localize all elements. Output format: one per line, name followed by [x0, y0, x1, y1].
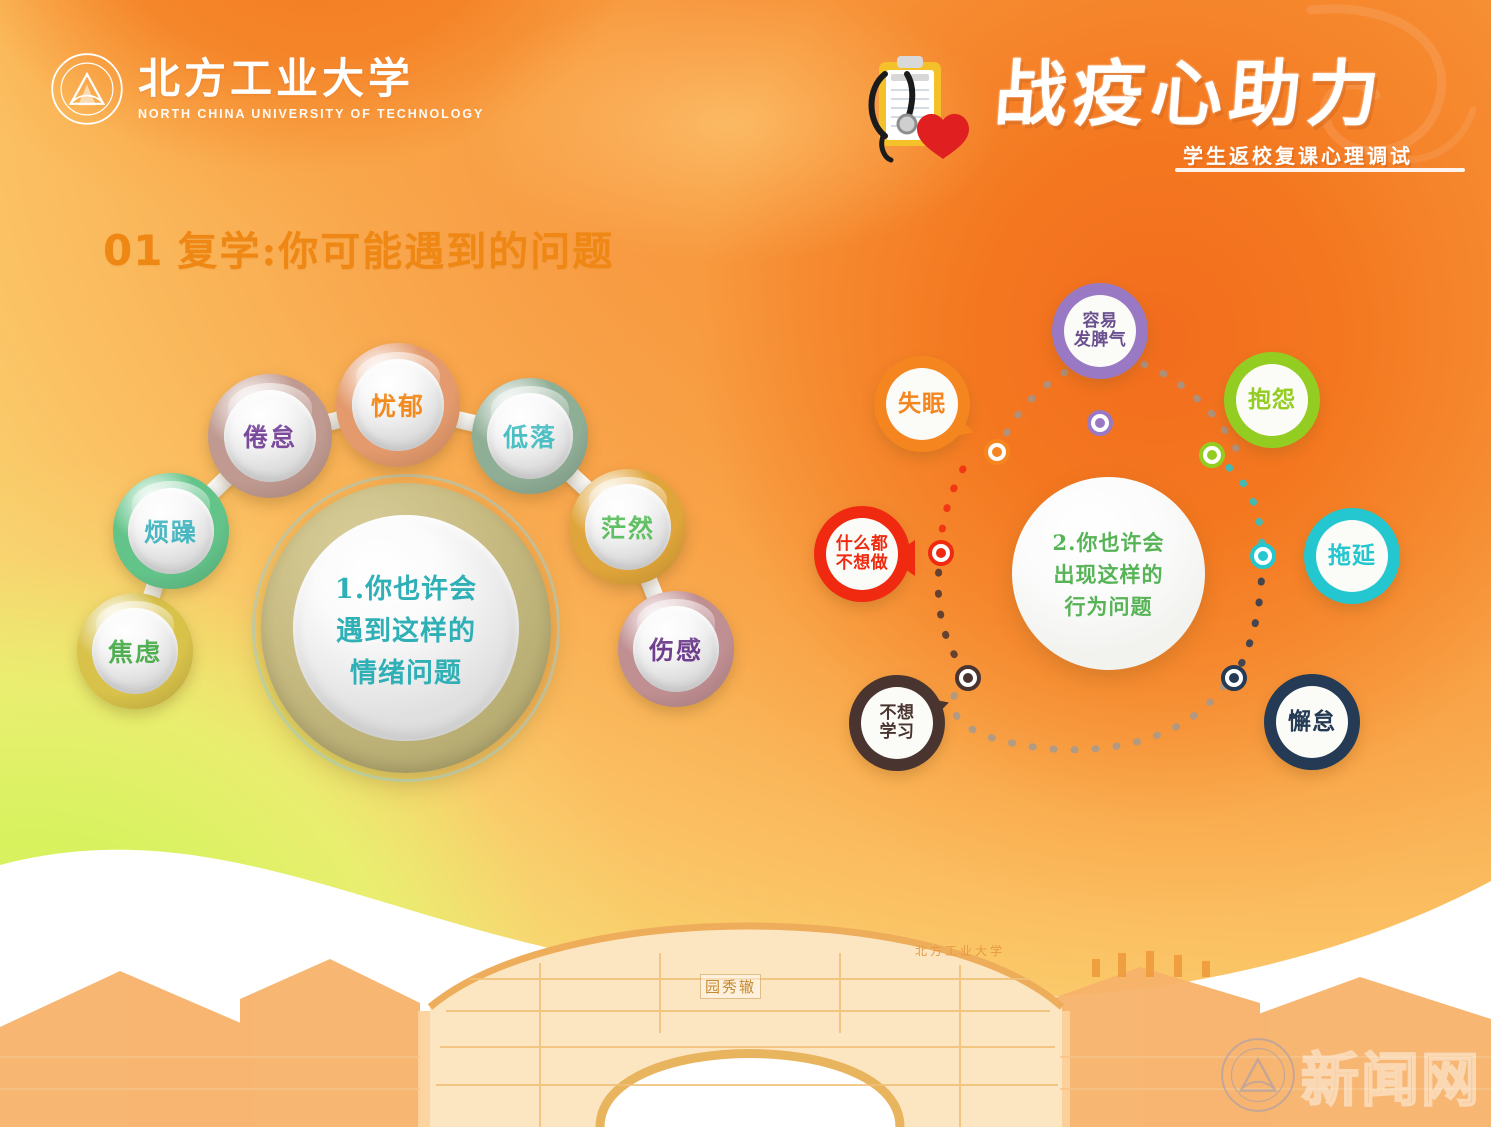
behavior-pin-label: 学习 — [880, 723, 915, 742]
emotion-node-label: 伤感 — [649, 631, 703, 667]
emotion-node[interactable]: 烦躁 — [113, 473, 229, 589]
behavior-path-marker-dot — [1258, 551, 1268, 561]
behavior-pin-label: 不想 — [880, 704, 915, 723]
watermark-text: 新闻网 — [1301, 1033, 1481, 1117]
emotion-node[interactable]: 焦虑 — [77, 593, 193, 709]
section-title: 复学:你可能遇到的问题 — [177, 219, 614, 277]
banner-subtitle: 学生返校复课心理调试 — [1183, 140, 1413, 169]
emotion-node-label: 茫然 — [601, 509, 655, 545]
emotion-node[interactable]: 忧郁 — [336, 343, 460, 467]
emotion-hub: 1.你也许会 遇到这样的 情绪问题 — [261, 483, 551, 773]
behavior-pin[interactable]: 什么都不想做 — [814, 506, 910, 602]
title-banner: 战疫心助力 学生返校复课心理调试 — [845, 36, 1445, 186]
building-roof-label: 北方工业大学 — [915, 942, 1005, 959]
section-heading: 01 复学:你可能遇到的问题 — [103, 219, 614, 277]
emotion-node-face: 低落 — [487, 393, 573, 479]
behavior-pin-label: 抱怨 — [1248, 387, 1296, 413]
behavior-path-marker-dot — [936, 548, 946, 558]
behavior-path-marker — [928, 540, 954, 566]
emotion-node-label: 倦怠 — [243, 418, 297, 454]
behavior-hub-line-3: 行为问题 — [1065, 591, 1153, 621]
emotion-node[interactable]: 伤感 — [618, 591, 734, 707]
emotion-node-face: 忧郁 — [352, 359, 444, 451]
banner-title: 战疫心助力 — [992, 58, 1387, 130]
emotion-node-label: 焦虑 — [108, 633, 162, 669]
behavior-pin-label: 懈怠 — [1288, 709, 1336, 735]
behavior-pin-label: 发脾气 — [1074, 331, 1127, 350]
emotion-hub-line-3: 情绪问题 — [350, 651, 462, 690]
behavior-pin-face: 容易发脾气 — [1064, 295, 1136, 367]
site-watermark: 新闻网 — [1219, 1033, 1481, 1117]
poster-canvas: 北方工业大学 NORTH CHINA UNIVERSITY OF TECHNOL… — [0, 0, 1491, 1127]
university-seal-watermark-icon — [1219, 1036, 1297, 1114]
behavior-pin[interactable]: 不想学习 — [849, 675, 945, 771]
university-name-en: NORTH CHINA UNIVERSITY OF TECHNOLOGY — [138, 107, 484, 121]
behavior-pin-face: 拖延 — [1316, 520, 1388, 592]
behavior-path-marker-dot — [1229, 673, 1239, 683]
behavior-pin[interactable]: 容易发脾气 — [1052, 283, 1148, 379]
behavior-pin[interactable]: 懈怠 — [1264, 674, 1360, 770]
behavior-path-marker-dot — [1095, 418, 1105, 428]
clipboard-stethoscope-heart-icon — [845, 44, 975, 174]
emotion-node-face: 烦躁 — [128, 488, 214, 574]
behavior-pin-label: 不想做 — [836, 554, 889, 573]
behavior-pin-label: 容易 — [1083, 312, 1118, 331]
behavior-pin-label: 拖延 — [1328, 543, 1376, 569]
behavior-path-marker — [1087, 410, 1113, 436]
emotion-node[interactable]: 茫然 — [570, 469, 686, 585]
emotion-node[interactable]: 低落 — [472, 378, 588, 494]
behavior-path-marker-dot — [992, 447, 1002, 457]
behavior-path-marker — [1250, 543, 1276, 569]
university-seal-icon — [50, 52, 124, 126]
behavior-pin-face: 抱怨 — [1236, 364, 1308, 436]
behavior-hub: 2.你也许会 出现这样的 行为问题 — [1012, 477, 1205, 670]
behavior-pin-label: 失眠 — [898, 391, 946, 417]
behavior-pin-label: 什么都 — [836, 535, 889, 554]
behavior-path-marker — [955, 665, 981, 691]
behavior-hub-line-2: 出现这样的 — [1054, 559, 1164, 589]
behavior-path-marker-dot — [963, 673, 973, 683]
university-name-cn: 北方工业大学 — [138, 57, 484, 101]
emotion-node-face: 伤感 — [633, 606, 719, 692]
behavior-pin-face: 失眠 — [886, 368, 958, 440]
university-logo: 北方工业大学 NORTH CHINA UNIVERSITY OF TECHNOL… — [50, 52, 484, 126]
behavior-hub-line-1: 2.你也许会 — [1053, 527, 1165, 557]
behavior-pin[interactable]: 拖延 — [1304, 508, 1400, 604]
behavior-path-marker — [1221, 665, 1247, 691]
behavior-pin-face: 懈怠 — [1276, 686, 1348, 758]
emotion-node-label: 烦躁 — [144, 513, 198, 549]
behavior-pin-face: 什么都不想做 — [826, 518, 898, 590]
emotion-node-face: 焦虑 — [92, 608, 178, 694]
emotion-node-label: 低落 — [503, 418, 557, 454]
behavior-path-marker-dot — [1207, 450, 1217, 460]
behavior-pin[interactable]: 抱怨 — [1224, 352, 1320, 448]
behavior-path-marker — [984, 439, 1010, 465]
emotion-hub-line-1: 1.你也许会 — [335, 567, 477, 606]
behavior-path-marker — [1199, 442, 1225, 468]
emotion-node-label: 忧郁 — [371, 387, 425, 423]
emotion-node-face: 倦怠 — [224, 390, 316, 482]
behavior-pin[interactable]: 失眠 — [874, 356, 970, 452]
section-number: 01 — [103, 226, 163, 275]
emotion-node-face: 茫然 — [585, 484, 671, 570]
behavior-pin-face: 不想学习 — [861, 687, 933, 759]
gate-plaque-label: 园秀辙 — [700, 974, 761, 999]
emotion-node[interactable]: 倦怠 — [208, 374, 332, 498]
emotion-hub-line-2: 遇到这样的 — [336, 609, 476, 648]
